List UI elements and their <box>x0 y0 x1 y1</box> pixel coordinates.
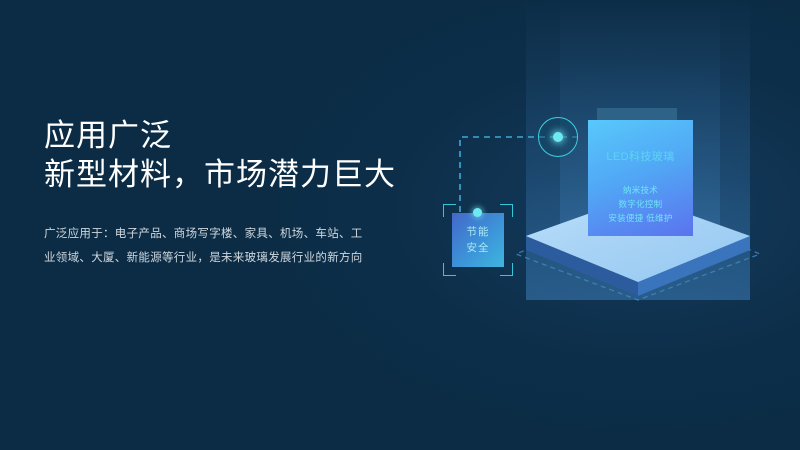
node-center-dot-icon <box>553 132 563 142</box>
tag-top-dot-icon <box>473 208 482 217</box>
energy-safety-tag: 节能 安全 <box>443 204 513 276</box>
panel-feature-item: 纳米技术 <box>588 183 693 197</box>
node-circle-icon <box>538 117 578 157</box>
headline-line-1: 应用广泛 <box>44 118 172 153</box>
slide-canvas: 应用广泛 新型材料，市场潜力巨大 广泛应用于：电子产品、商场写字楼、家具、机场、… <box>0 0 800 450</box>
panel-feature-item: 安装便捷 低维护 <box>588 211 693 225</box>
panel-title: LED科技玻璃 <box>588 148 693 164</box>
tag-line-1: 节能 <box>467 224 490 240</box>
headline-line-2: 新型材料，市场潜力巨大 <box>44 155 396 194</box>
body-paragraph: 广泛应用于：电子产品、商场写字楼、家具、机场、车站、工业领域、大厦、新能源等行业… <box>44 222 374 270</box>
panel-feature-item: 数字化控制 <box>588 197 693 211</box>
tag-line-2: 安全 <box>467 240 490 256</box>
tag-box-body: 节能 安全 <box>452 213 504 267</box>
headline: 应用广泛 新型材料，市场潜力巨大 <box>44 116 396 194</box>
led-glass-panel: LED科技玻璃 纳米技术 数字化控制 安装便捷 低维护 <box>588 120 693 236</box>
panel-feature-list: 纳米技术 数字化控制 安装便捷 低维护 <box>588 183 693 225</box>
